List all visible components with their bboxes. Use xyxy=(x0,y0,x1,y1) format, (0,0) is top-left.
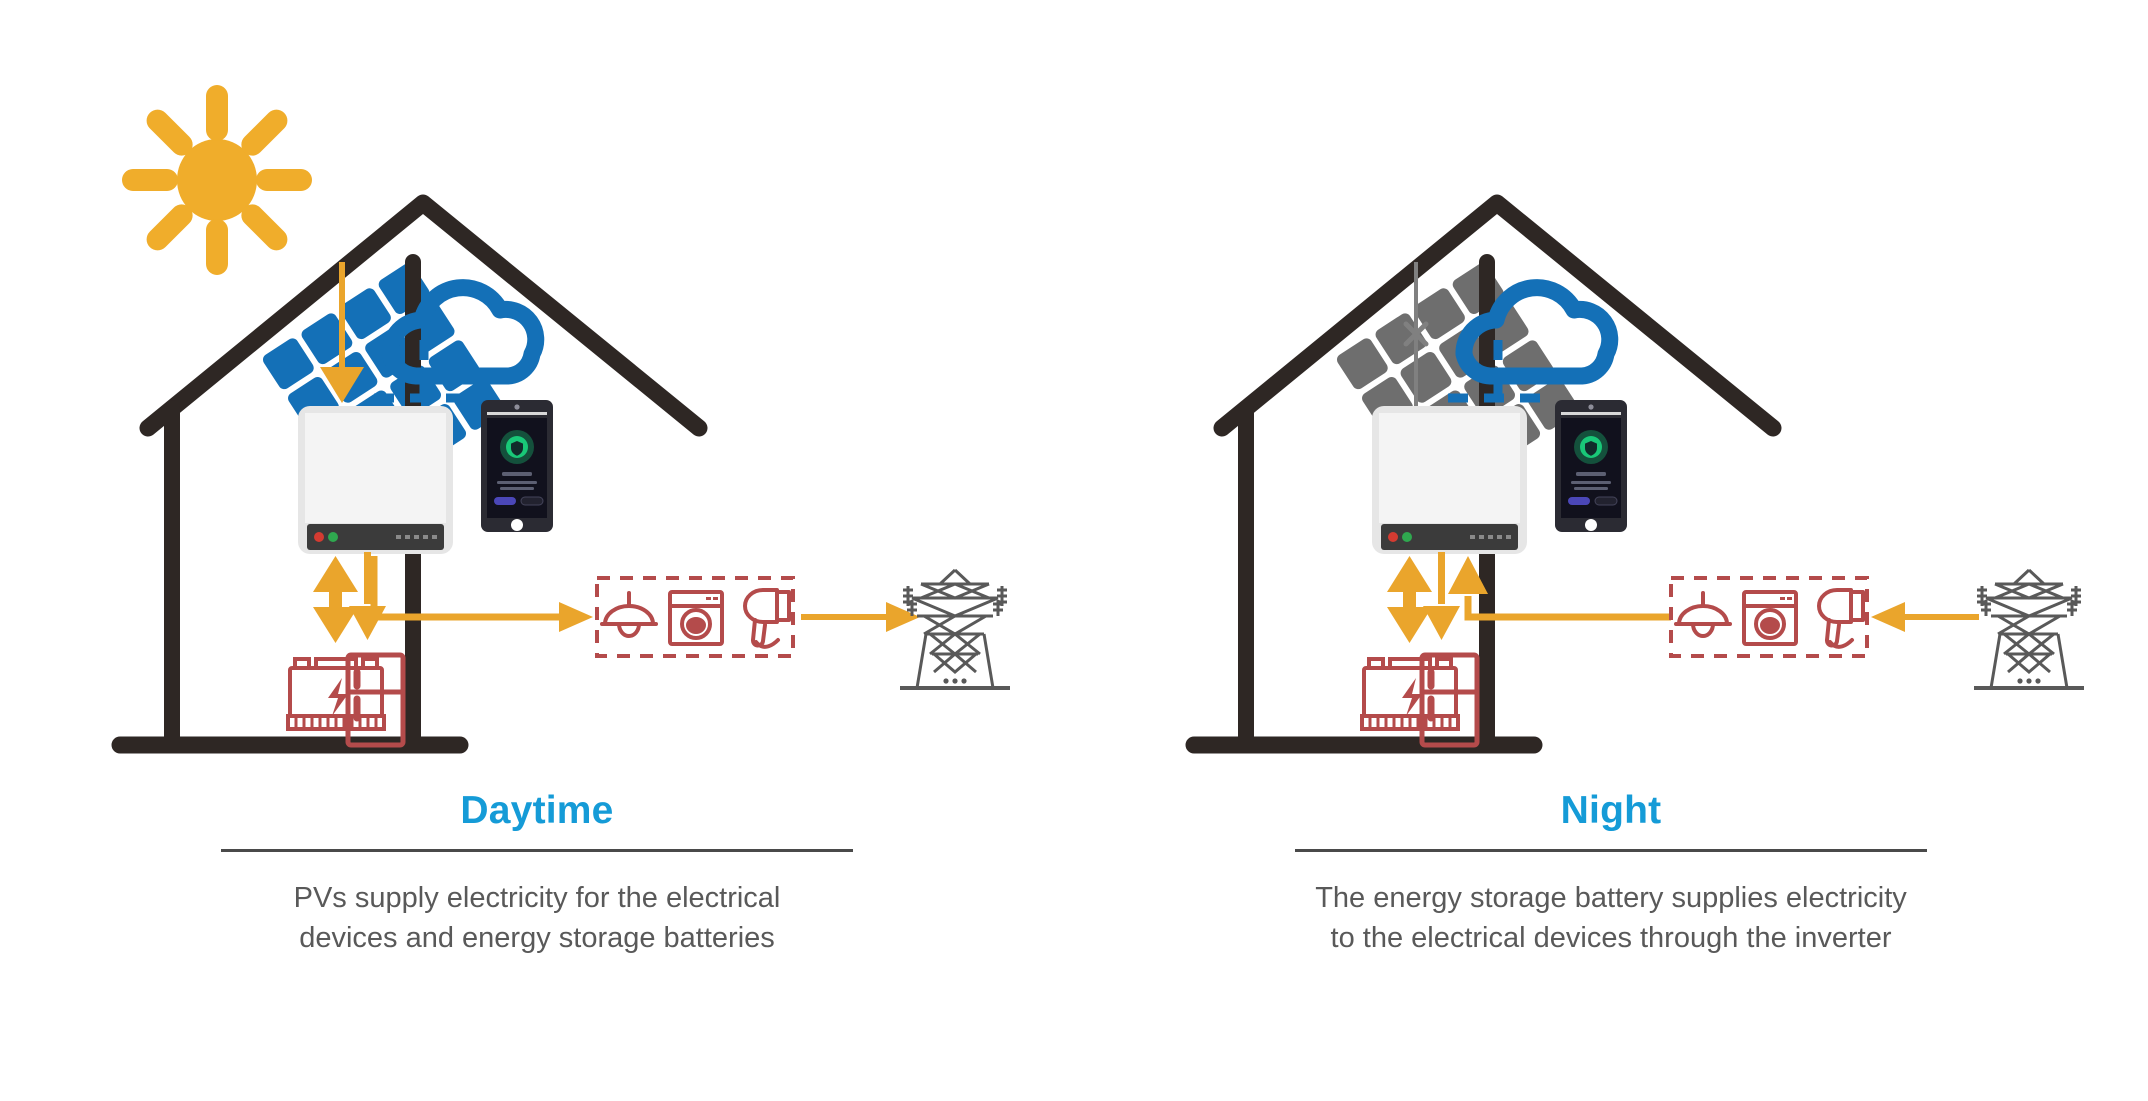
lamp-icon xyxy=(602,593,656,636)
lamp-icon xyxy=(1676,593,1730,636)
inverter-led-red xyxy=(1388,532,1398,542)
hairdryer-icon xyxy=(745,590,789,647)
moon-icon xyxy=(1201,90,1264,216)
flow-inverter-fridge xyxy=(1423,552,1460,640)
caption-text-daytime: PVs supply electricity for the electrica… xyxy=(187,878,887,958)
caption-line-1: The energy storage battery supplies elec… xyxy=(1261,878,1961,918)
smartphone-icon xyxy=(481,400,553,532)
caption-divider xyxy=(1295,849,1927,852)
appliances-group xyxy=(1671,578,1867,656)
inverter-led-green xyxy=(1402,532,1412,542)
washing-machine-icon xyxy=(1744,592,1796,644)
phone-blurred-text xyxy=(1571,472,1611,490)
panel-title-daytime: Daytime xyxy=(0,790,1074,833)
scene-daytime xyxy=(0,0,1074,790)
flow-appliances-to-grid xyxy=(801,602,920,632)
caption-text-night: The energy storage battery supplies elec… xyxy=(1261,878,1961,958)
caption-line-2: to the electrical devices through the in… xyxy=(1261,918,1961,958)
phone-primary-button xyxy=(494,497,516,505)
caption-line-2: devices and energy storage batteries xyxy=(187,918,887,958)
inverter-led-green xyxy=(328,532,338,542)
washing-machine-icon xyxy=(670,592,722,644)
caption-line-1: PVs supply electricity for the electrica… xyxy=(187,878,887,918)
flow-inverter-fridge xyxy=(349,552,386,640)
phone-primary-button xyxy=(1568,497,1590,505)
caption-daytime: Daytime PVs supply electricity for the e… xyxy=(0,790,1074,958)
diagram-canvas: Daytime PVs supply electricity for the e… xyxy=(0,0,2148,1101)
phone-blurred-text xyxy=(497,472,537,490)
inverter-unit xyxy=(298,406,453,554)
scene-night xyxy=(1074,0,2148,790)
panel-daytime: Daytime PVs supply electricity for the e… xyxy=(0,0,1074,1101)
panel-night: Night The energy storage battery supplie… xyxy=(1074,0,2148,1101)
inverter-led-red xyxy=(314,532,324,542)
transmission-tower-icon xyxy=(1974,570,2084,688)
caption-night: Night The energy storage battery supplie… xyxy=(1074,790,2148,958)
inverter-unit xyxy=(1372,406,1527,554)
hairdryer-icon xyxy=(1819,590,1863,647)
sun-icon xyxy=(122,85,312,275)
transmission-tower-icon xyxy=(900,570,1010,688)
flow-inverter-battery xyxy=(1387,556,1432,643)
flow-grid-to-appliances xyxy=(1871,602,1979,632)
panel-title-night: Night xyxy=(1074,790,2148,833)
smartphone-icon xyxy=(1555,400,1627,532)
flow-inverter-battery xyxy=(313,556,358,643)
appliances-group xyxy=(597,578,793,656)
caption-divider xyxy=(221,849,853,852)
